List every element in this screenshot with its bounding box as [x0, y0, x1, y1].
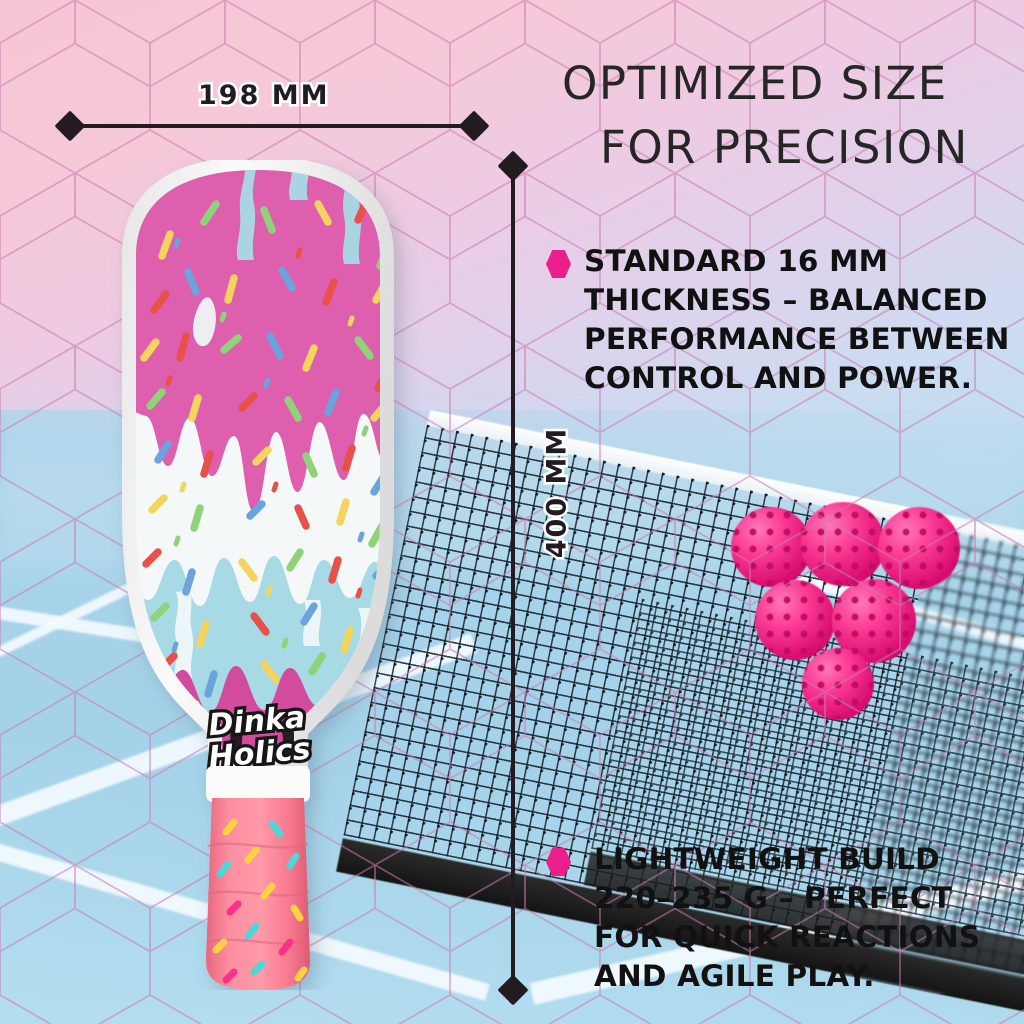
- feature-text: STANDARD 16 MM THICKNESS – BALANCED PERF…: [584, 242, 1024, 398]
- headline-line-1: OPTIMIZED SIZE: [562, 57, 948, 110]
- feature-text: LIGHTWEIGHT BUILD 220–235 G – PERFECT FO…: [584, 840, 1024, 996]
- infographic-canvas: Dinka Holics: [0, 0, 1024, 1024]
- width-dimension-label: 198 MM: [198, 80, 330, 111]
- width-dimension-line: [70, 124, 474, 128]
- height-dimension-line: [511, 166, 515, 990]
- paddle-collar: [206, 766, 310, 802]
- headline-line-2: FOR PRECISION: [562, 116, 1012, 180]
- paddle-brand-logo: Dinka Holics: [205, 700, 312, 776]
- feature-item-thickness: STANDARD 16 MM THICKNESS – BALANCED PERF…: [546, 242, 1024, 398]
- hexagon-bullet-icon: [546, 848, 571, 876]
- height-dimension-label: 400 MM: [541, 427, 572, 559]
- page-title: OPTIMIZED SIZE FOR PRECISION: [562, 52, 1012, 180]
- pickleball-paddle: Dinka Holics: [58, 160, 458, 990]
- feature-item-weight: LIGHTWEIGHT BUILD 220–235 G – PERFECT FO…: [546, 840, 1024, 996]
- hexagon-bullet-icon: [546, 250, 571, 278]
